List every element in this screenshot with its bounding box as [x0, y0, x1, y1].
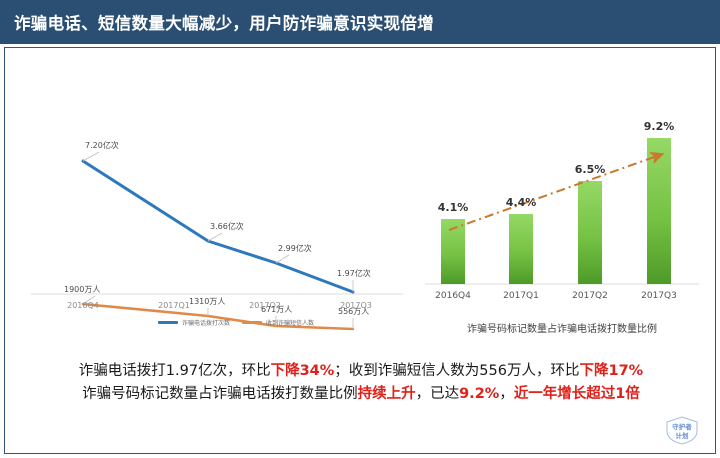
bar-x-tick-0: 2016Q4 [435, 291, 471, 301]
bar-label-2017Q3: 9.2% [644, 120, 675, 133]
title-band: 诈骗电话、短信数量大幅减少，用户防诈骗意识实现倍增 [0, 0, 720, 44]
legend-swatch-calls [158, 321, 178, 324]
page-title: 诈骗电话、短信数量大幅减少，用户防诈骗意识实现倍增 [14, 10, 434, 34]
summary-1-emphasis-2: 下降17% [579, 363, 643, 379]
summary-line-1: 诈骗电话拨打1.97亿次，环比下降34%；收到诈骗短信人数为556万人，环比下降… [5, 360, 717, 383]
bar-label-2017Q1: 4.4% [506, 196, 537, 209]
line-x-tick-0: 2016Q4 [67, 301, 99, 310]
bar-chart-svg: 4.1% 4.4% 6.5% 9.2% 2016Q4 2017Q1 2017Q2… [417, 48, 707, 348]
legend-swatch-sms [242, 321, 262, 324]
bar-label-2016Q4: 4.1% [438, 201, 469, 214]
bar-x-tick-3: 2017Q3 [641, 291, 677, 301]
charts-area: 7.20亿次 3.66亿次 2.99亿次 1.97亿次 1900万人 1310万… [5, 48, 717, 348]
watermark-line-2: 计划 [676, 431, 690, 440]
summary-2-part-1: 诈骗号码标记数量占诈骗电话拨打数量比例 [82, 386, 358, 402]
trend-arrow [449, 156, 657, 230]
leader-line [208, 233, 222, 241]
bar-chart: 4.1% 4.4% 6.5% 9.2% 2016Q4 2017Q1 2017Q2… [417, 48, 707, 348]
summary-1-part-1: 诈骗电话拨打1.97亿次，环比 [79, 363, 271, 379]
summary-2-part-2: ，已达 [416, 386, 460, 402]
summary-1-emphasis-1: 下降34% [271, 363, 335, 379]
legend-item-sms[interactable]: 收到诈骗短信人数 [242, 318, 314, 327]
bar-2017Q1[interactable] [509, 214, 533, 284]
legend-label-calls: 诈骗电话拨打次数 [182, 318, 230, 327]
summary-2-emphasis-1: 持续上升 [358, 386, 416, 402]
legend-item-calls[interactable]: 诈骗电话拨打次数 [158, 318, 230, 327]
content-panel: 7.20亿次 3.66亿次 2.99亿次 1.97亿次 1900万人 1310万… [4, 47, 716, 454]
data-label-calls-2017Q2: 2.99亿次 [278, 243, 312, 253]
bar-x-tick-1: 2017Q1 [503, 291, 539, 301]
bar-chart-caption: 诈骗号码标记数量占诈骗电话拨打数量比例 [417, 320, 707, 335]
summary-2-part-3: ， [499, 386, 514, 402]
leader-line [276, 255, 289, 263]
line-chart: 7.20亿次 3.66亿次 2.99亿次 1.97亿次 1900万人 1310万… [23, 48, 413, 348]
summary-2-emphasis-3: 近一年增长超过1倍 [514, 386, 640, 402]
data-label-sms-2017Q1: 1310万人 [189, 297, 225, 306]
bar-label-2017Q2: 6.5% [575, 163, 606, 176]
line-x-tick-2: 2017Q2 [249, 301, 281, 310]
slide-root: 诈骗电话、短信数量大幅减少，用户防诈骗意识实现倍增 [0, 0, 720, 458]
bar-x-tick-2: 2017Q2 [572, 291, 608, 301]
summary-2-emphasis-2: 9.2% [459, 386, 499, 402]
watermark-line-1: 守护者 [672, 422, 692, 431]
summary-line-2: 诈骗号码标记数量占诈骗电话拨打数量比例持续上升，已达9.2%，近一年增长超过1倍 [5, 383, 717, 406]
line-chart-svg: 7.20亿次 3.66亿次 2.99亿次 1.97亿次 1900万人 1310万… [23, 48, 413, 348]
summary-1-part-2: ；收到诈骗短信人数为556万人，环比 [334, 363, 579, 379]
summary-block: 诈骗电话拨打1.97亿次，环比下降34%；收到诈骗短信人数为556万人，环比下降… [5, 360, 717, 406]
line-x-tick-3: 2017Q3 [340, 301, 372, 310]
line-x-tick-1: 2017Q1 [158, 301, 190, 310]
line-chart-legend: 诈骗电话拨打次数 收到诈骗短信人数 [41, 318, 431, 327]
legend-label-sms: 收到诈骗短信人数 [266, 318, 314, 327]
bar-2017Q3[interactable] [647, 138, 671, 284]
leader-line [83, 152, 99, 161]
data-label-calls-2017Q1: 3.66亿次 [210, 221, 244, 231]
watermark-logo-icon: 守护者 计划 [659, 415, 705, 445]
bar-2017Q2[interactable] [578, 181, 602, 284]
data-label-calls-2016Q4: 7.20亿次 [85, 140, 119, 150]
data-label-calls-2017Q3: 1.97亿次 [337, 268, 371, 278]
data-label-sms-2016Q4: 1900万人 [64, 285, 100, 294]
